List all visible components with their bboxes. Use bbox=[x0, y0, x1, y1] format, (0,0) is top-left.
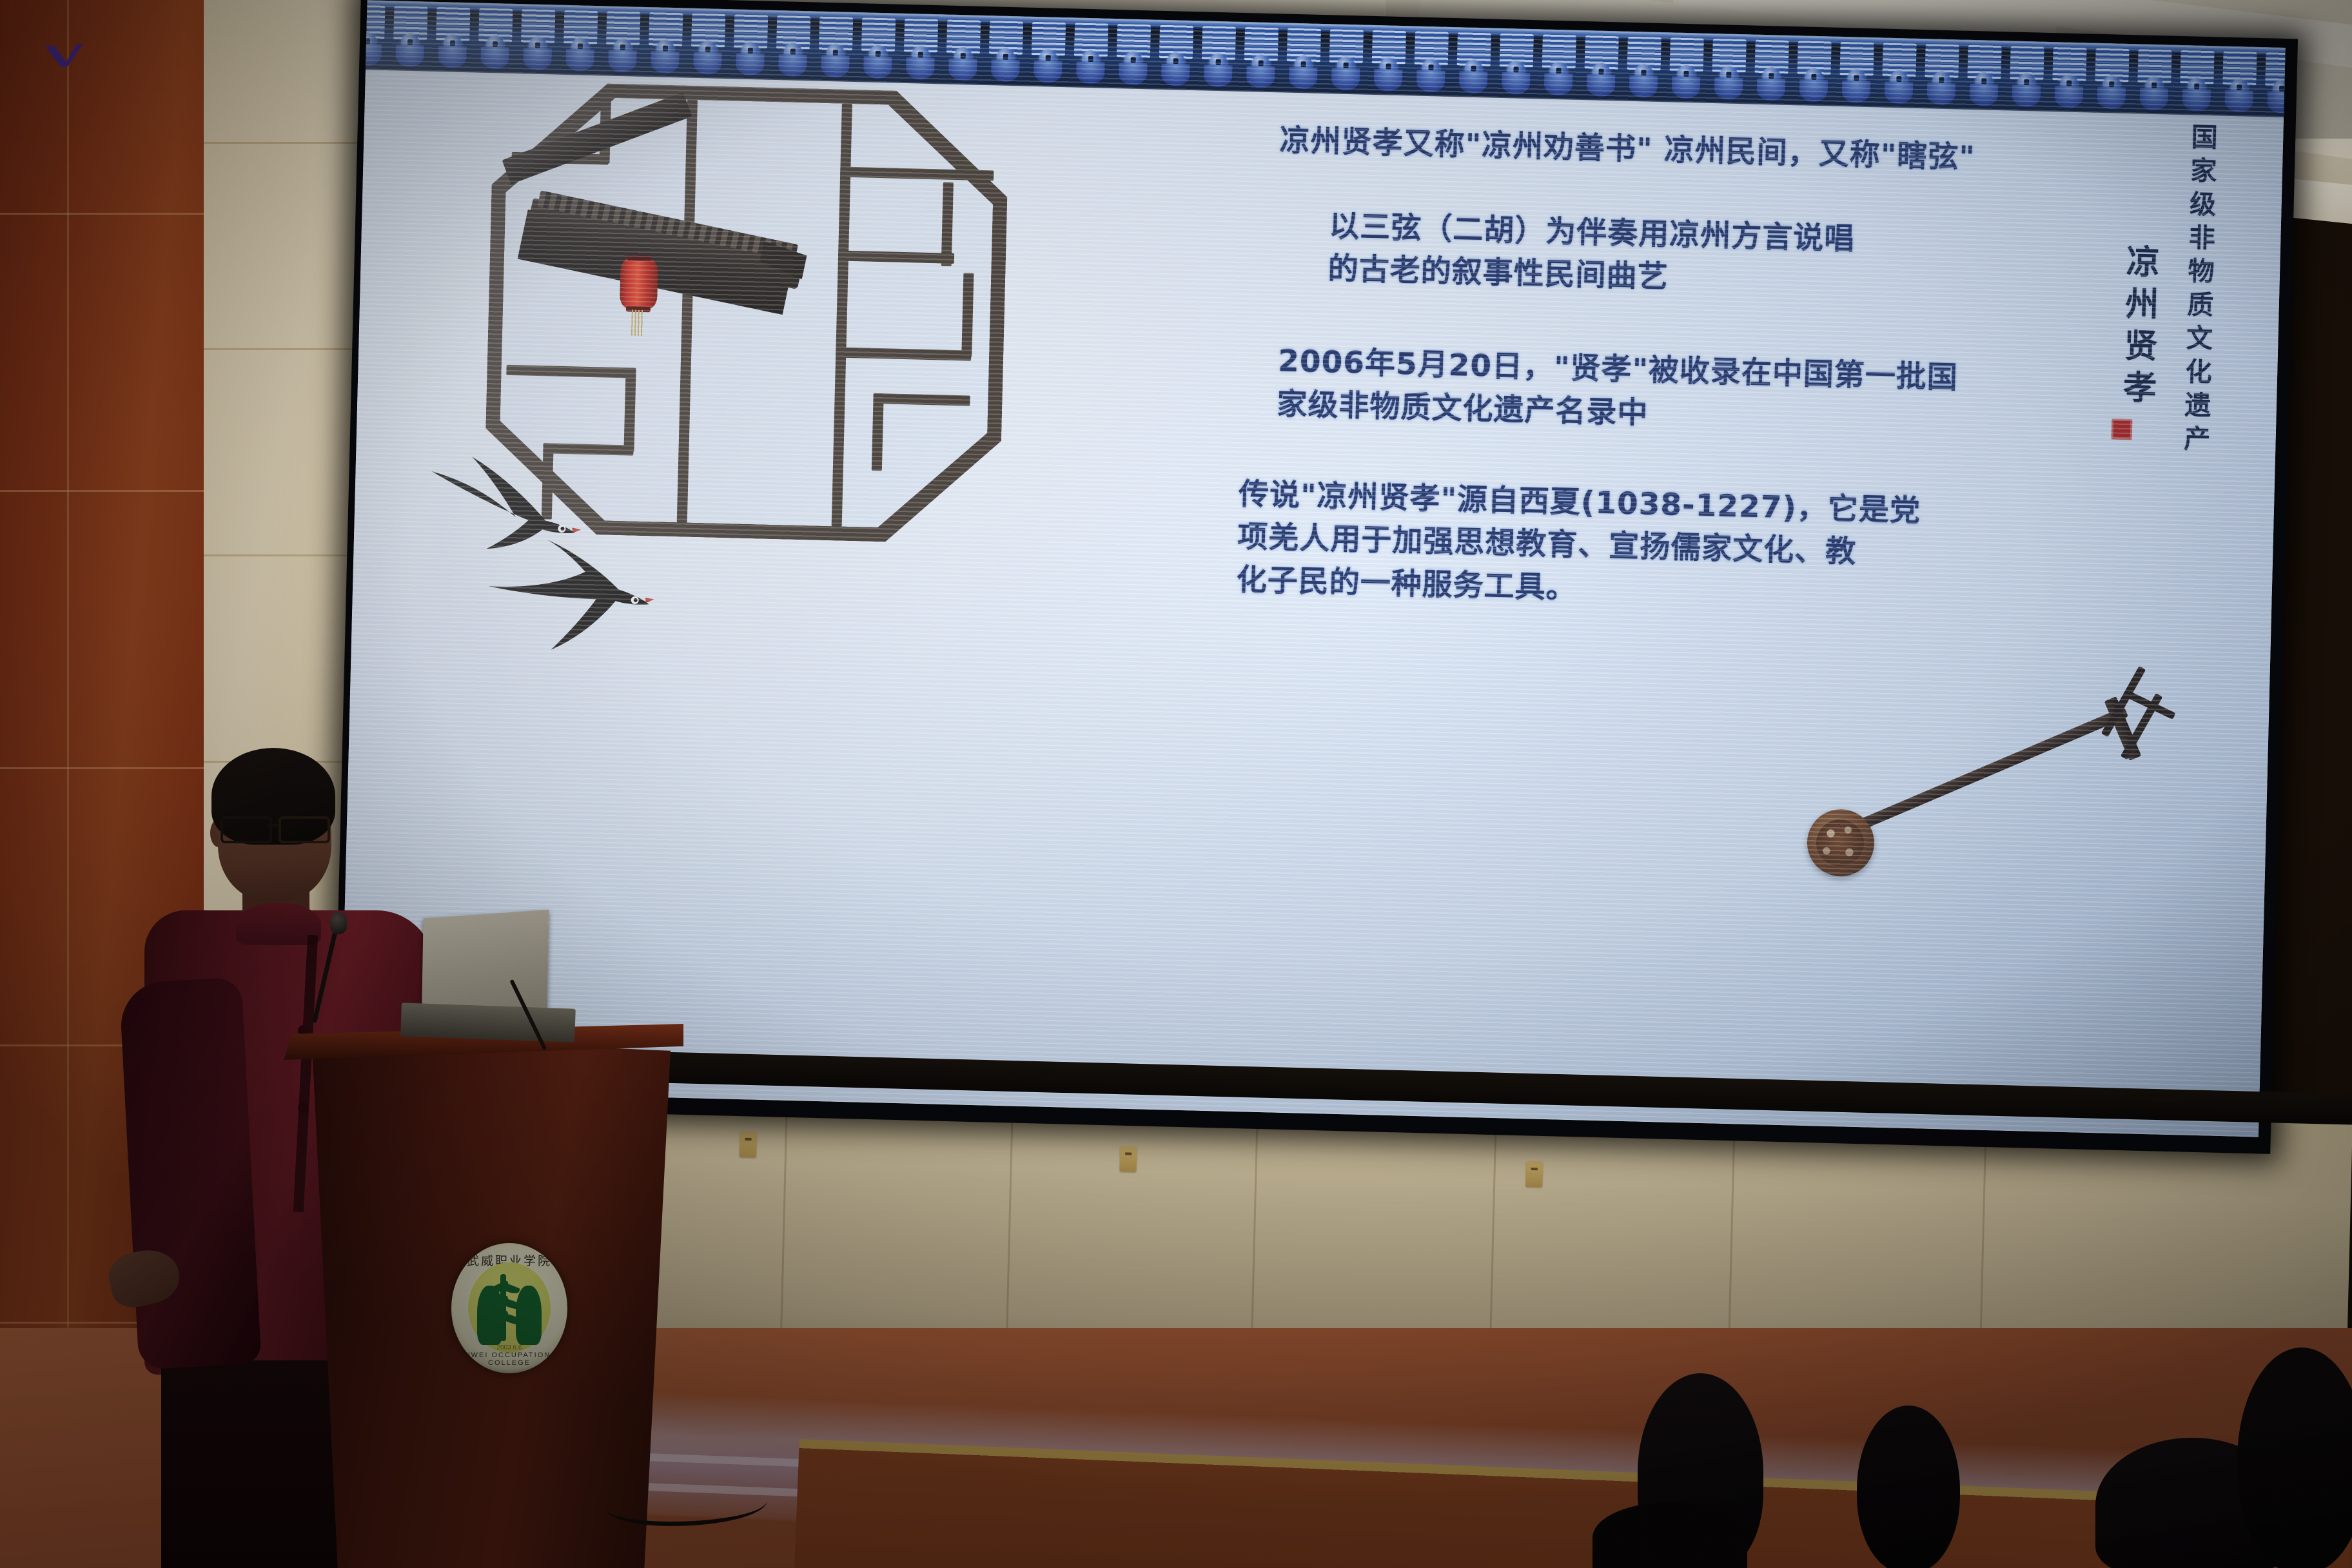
emblem-english-name: WUWEI OCCUPATIONAL COLLEGE bbox=[451, 1351, 567, 1367]
eave-tile-icon bbox=[1197, 24, 1240, 88]
roof-silhouette-icon bbox=[526, 159, 834, 360]
eave-tile-icon bbox=[1665, 36, 1708, 99]
eave-tile-icon bbox=[1453, 31, 1495, 94]
eave-tile-icon bbox=[1877, 41, 1920, 104]
lecture-hall-scene: 凉州贤孝又称"凉州劝善书" 凉州民间，又称"瞎弦" 以三弦（二胡）为伴奏用凉州方… bbox=[0, 0, 2352, 1568]
eave-tile-icon bbox=[2218, 50, 2260, 113]
eave-tile-icon bbox=[2090, 47, 2133, 110]
eave-tile-icon bbox=[1750, 38, 1792, 101]
eave-tile-icon bbox=[1367, 29, 1410, 92]
emblem-year: 2003.6.6 bbox=[451, 1344, 567, 1351]
eave-tile-icon bbox=[729, 13, 772, 76]
sanxian-instrument-icon bbox=[1798, 681, 2204, 961]
eave-tile-icon bbox=[942, 18, 985, 81]
red-seal-icon bbox=[2112, 418, 2133, 440]
eave-tile-icon bbox=[1282, 26, 1325, 90]
eave-tile-icon bbox=[687, 12, 729, 75]
slide-paragraph-2: 以三弦（二胡）为伴奏用凉州方言说唱 的古老的叙事性民间曲艺 bbox=[1328, 205, 2251, 314]
red-lantern-icon bbox=[620, 258, 658, 309]
calligraphy-block: 国家级非物质文化遗产 凉州贤孝 bbox=[2111, 121, 2222, 459]
eave-tile-icon bbox=[1580, 34, 1623, 97]
eave-tile-icon bbox=[1792, 39, 1835, 103]
eave-tile-icon bbox=[1963, 44, 2005, 107]
eave-tile-icon bbox=[1920, 43, 1963, 106]
slide-paragraph-4: 传说"凉州贤孝"源自西夏(1038-1227)，它是党 项羌人用于加强思想教育、… bbox=[1236, 473, 2244, 627]
eave-tile-icon bbox=[389, 5, 431, 68]
eave-tile-icon bbox=[431, 6, 474, 69]
audience-head bbox=[1592, 1502, 1747, 1568]
eave-tile-icon bbox=[2048, 46, 2090, 109]
eave-tile-icon bbox=[1027, 21, 1070, 84]
eave-tile-icon bbox=[772, 14, 814, 77]
eave-tile-icon bbox=[2133, 48, 2175, 111]
eave-tile-icon bbox=[516, 8, 559, 71]
slide-paragraph-3: 2006年5月20日，"贤孝"被收录在中国第一批国 家级非物质文化遗产名录中 bbox=[1277, 340, 2248, 451]
eave-tile-icon bbox=[1240, 26, 1282, 89]
power-outlet[interactable] bbox=[1119, 1146, 1137, 1172]
eave-tile-icon bbox=[985, 19, 1027, 83]
eave-tile-icon bbox=[1538, 33, 1580, 96]
glasses-icon bbox=[218, 816, 338, 842]
eave-tile-icon bbox=[2260, 51, 2286, 114]
eave-tile-icon bbox=[1707, 37, 1750, 101]
calligraphy-title: 凉州贤孝 bbox=[2112, 244, 2164, 413]
eave-tile-icon bbox=[2175, 49, 2218, 112]
eave-tile-icon bbox=[899, 17, 942, 81]
slide-body-text: 凉州贤孝又称"凉州劝善书" 凉州民间，又称"瞎弦" 以三弦（二胡）为伴奏用凉州方… bbox=[1249, 119, 2253, 627]
eave-tile-icon bbox=[1835, 41, 1877, 104]
eave-tile-icon bbox=[559, 9, 602, 72]
eave-tile-icon bbox=[1112, 23, 1155, 86]
eave-tile-icon bbox=[1155, 24, 1197, 87]
eave-tile-icon bbox=[644, 11, 687, 74]
power-outlet[interactable] bbox=[740, 1132, 757, 1158]
eave-tile-icon bbox=[1325, 28, 1367, 91]
power-outlet[interactable] bbox=[1525, 1161, 1543, 1188]
eave-tile-icon bbox=[1410, 30, 1453, 93]
projection-screen: 凉州贤孝又称"凉州劝善书" 凉州民间，又称"瞎弦" 以三弦（二胡）为伴奏用凉州方… bbox=[333, 0, 2298, 1154]
eave-tile-icon bbox=[602, 10, 644, 73]
eave-tile-icon bbox=[1495, 32, 1538, 95]
eave-tile-icon bbox=[2005, 44, 2048, 108]
college-emblem: 武威职业学院 2003.6.6 WUWEI OCCUPATIONAL COLLE… bbox=[451, 1243, 567, 1373]
lantern-tassel-icon bbox=[631, 310, 643, 336]
laptop-keyboard[interactable] bbox=[400, 1003, 576, 1042]
microphone-icon bbox=[330, 912, 347, 934]
eave-tile-icon bbox=[366, 3, 389, 66]
eave-tile-icon bbox=[814, 15, 857, 78]
eave-tile-icon bbox=[1070, 21, 1112, 84]
projected-slide: 凉州贤孝又称"凉州劝善书" 凉州民间，又称"瞎弦" 以三弦（二胡）为伴奏用凉州方… bbox=[340, 0, 2286, 1137]
eave-tile-icon bbox=[857, 16, 899, 79]
swallow-icon bbox=[480, 538, 676, 659]
eave-tile-icon bbox=[1623, 35, 1665, 99]
eave-tile-icon bbox=[474, 6, 516, 70]
audience-head bbox=[1857, 1406, 1960, 1568]
